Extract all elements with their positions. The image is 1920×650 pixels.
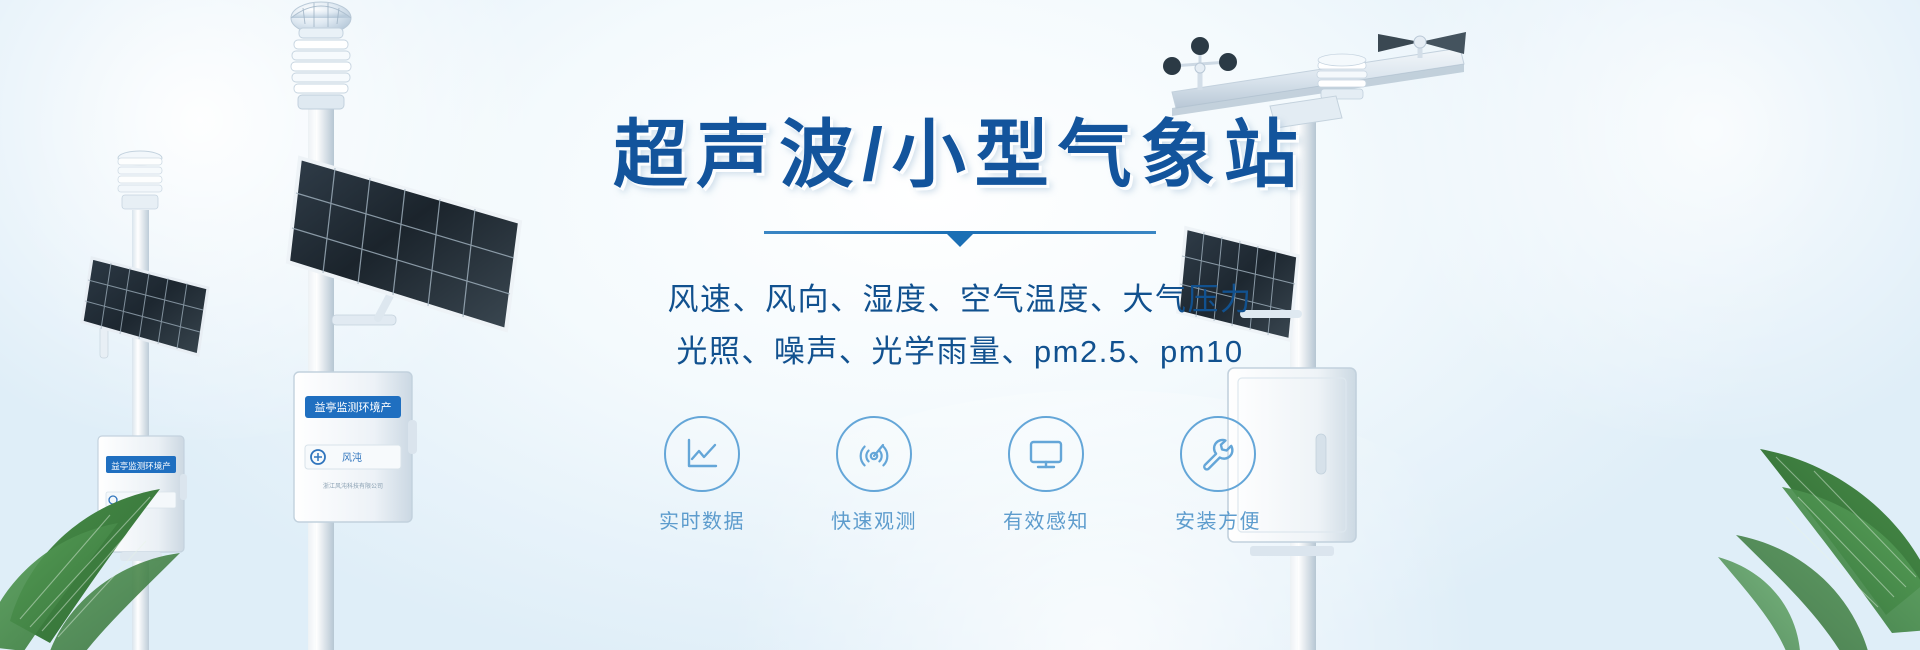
weather-station-banner: 益亭监测环境产: [0, 0, 1920, 650]
feature-icon-circle: [1008, 416, 1084, 492]
line-chart-icon: [682, 434, 722, 474]
feature-label: 快速观测: [831, 505, 917, 534]
feature-icon-circle: [1180, 416, 1256, 492]
divider-caret-icon: [947, 234, 973, 247]
cup-anemometer: [1163, 37, 1237, 90]
feature-item-fast-observation[interactable]: 快速观测: [810, 416, 938, 534]
feature-icon-circle: [836, 416, 912, 492]
signal-detect-icon: [854, 434, 894, 474]
feature-icon-circle: [664, 416, 740, 492]
feature-item-realtime-data[interactable]: 实时数据: [638, 416, 766, 534]
feature-label: 有效感知: [1003, 505, 1089, 534]
wrench-icon: [1198, 434, 1238, 474]
feature-item-effective-sensing[interactable]: 有效感知: [982, 416, 1110, 534]
banner-subtitle-line-1: 风速、风向、湿度、空气温度、大气压力: [668, 276, 1253, 324]
monitor-screen-icon: [1026, 434, 1066, 474]
title-divider: [764, 228, 1156, 254]
feature-label: 安装方便: [1175, 505, 1261, 534]
banner-title: 超声波/小型气象站: [613, 118, 1307, 192]
ultrasonic-sensor-head: [291, 2, 351, 109]
feature-item-easy-install[interactable]: 安装方便: [1154, 416, 1282, 534]
banner-subtitle-line-2: 光照、噪声、光学雨量、pm2.5、pm10: [676, 328, 1243, 376]
feature-list: 实时数据 快速观测: [638, 416, 1282, 534]
banner-content: 超声波/小型气象站 风速、风向、湿度、空气温度、大气压力 光照、噪声、光学雨量、…: [0, 118, 1920, 534]
feature-label: 实时数据: [659, 505, 745, 534]
radiation-shield-right: [1317, 54, 1367, 99]
wind-vane: [1378, 32, 1466, 58]
